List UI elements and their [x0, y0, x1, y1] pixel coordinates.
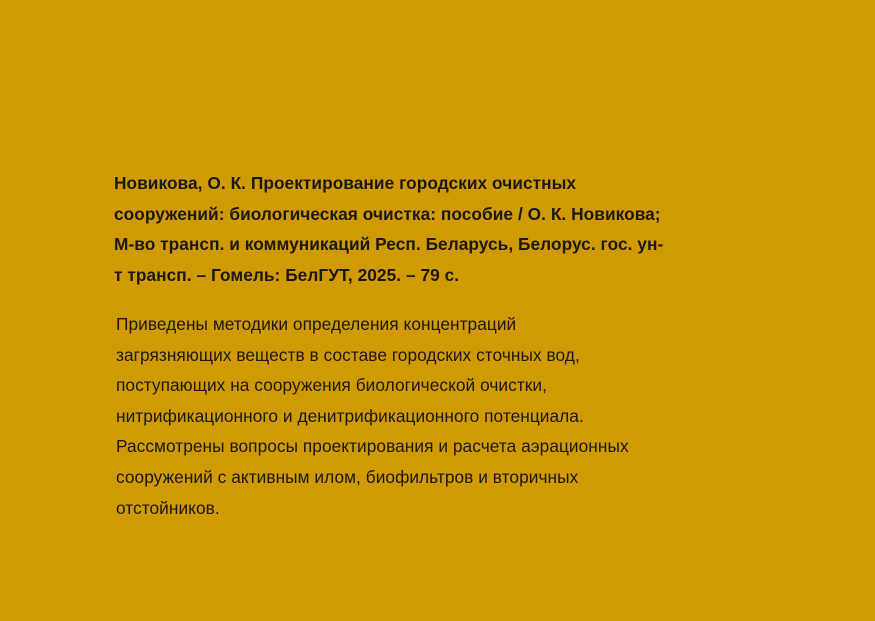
bibliographic-citation: Новикова, О. К. Проектирование городских… [114, 168, 764, 290]
citation-line: Новикова, О. К. Проектирование городских… [114, 168, 764, 199]
annotation-line: нитрификационного и денитрификационного … [116, 401, 756, 432]
content-column: Новикова, О. К. Проектирование городских… [114, 168, 774, 523]
annotation-line: сооружений с активным илом, биофильтров … [116, 462, 756, 493]
library-record-card: Новикова, О. К. Проектирование городских… [0, 0, 875, 621]
annotation-line: Приведены методики определения концентра… [116, 309, 756, 340]
citation-line: сооружений: биологическая очистка: пособ… [114, 199, 764, 230]
citation-line: т трансп. – Гомель: БелГУТ, 2025. – 79 с… [114, 260, 764, 291]
annotation-line: загрязняющих веществ в составе городских… [116, 340, 756, 371]
annotation-line: поступающих на сооружения биологической … [116, 370, 756, 401]
annotation-line: Рассмотрены вопросы проектирования и рас… [116, 431, 756, 462]
annotation-line: отстойников. [116, 493, 756, 524]
annotation-text: Приведены методики определения концентра… [116, 309, 756, 523]
citation-line: М-во трансп. и коммуникаций Респ. Белару… [114, 229, 764, 260]
